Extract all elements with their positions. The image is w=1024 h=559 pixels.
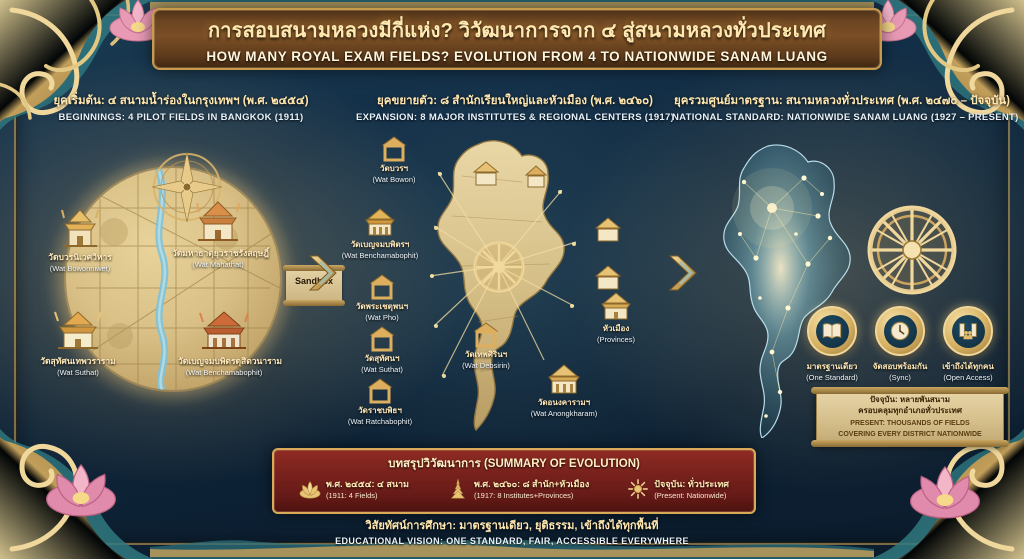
temple-label-english: (Wat Mahathat) [172,260,264,269]
temple-label-thai: วัดเบญจมบพิตรดุสิตวนาราม [178,354,270,368]
vision-footer: วิสัยทัศน์การศึกษา: มาตรฐานเดียว, ยุติธร… [0,516,1024,546]
temple-icon [178,310,270,354]
section-header-thai: ยุคเริ่มต้น: ๔ สนามน้ำร่องในกรุงเทพฯ (พ.… [36,92,326,110]
present-status-scroll: ปัจจุบัน: หลายพันสนาม ครอบคลุมทุกอำเภอทั… [816,390,1004,444]
node-wat-anongkharam[interactable]: วัดอนงคารามฯ (Wat Anongkharam) [516,366,612,418]
title-banner: การสอบสนามหลวงมีกี่แห่ง? วิวัฒนาการจาก ๔… [152,8,882,70]
section-header-thai: ยุคขยายตัว: ๘ สำนักเรียนใหญ่และหัวเมือง … [350,92,680,110]
scroll-thai-line-1: ปัจจุบัน: หลายพันสนาม [870,395,950,406]
node-wat-ratchabophit[interactable]: วัดราชบพิธฯ (Wat Ratchabophit) [332,374,428,426]
infographic-canvas: การสอบสนามหลวงมีกี่แห่ง? วิวัฒนาการจาก ๔… [0,0,1024,559]
medal-disc [943,306,993,356]
temple-gate-icon [334,322,430,352]
open-access-icon [957,320,979,342]
map-temple-east [582,214,642,324]
medal-label-thai: เข้าถึงได้ทุกคน [939,360,997,373]
panel-national: มาตรฐานเดียว (One Standard) จัดสอบพร้อมก… [690,128,1010,440]
feature-medals: มาตรฐานเดียว (One Standard) จัดสอบพร้อมก… [800,306,1000,382]
lotus-flower-bottom-left [42,459,120,523]
temple-label-english: (Wat Benchamabophit) [178,368,270,377]
node-label-english: (Wat Ratchabophit) [332,417,428,426]
temple-label-english: (Wat Bowonniwet) [34,264,126,273]
title-english: HOW MANY ROYAL EXAM FIELDS? EVOLUTION FR… [206,49,827,64]
pagoda-icon [447,478,469,500]
summary-item-1911[interactable]: พ.ศ. ๒๔๕๔: ๔ สนาม (1911: 4 Fields) [299,477,409,500]
node-wat-debsirin[interactable]: วัดเทพศิรินฯ (Wat Debsirin) [438,318,534,370]
medal-label-english: (Open Access) [939,373,997,382]
scroll-english-line-1: PRESENT: THOUSANDS OF FIELDS [850,419,969,428]
medal-disc [807,306,857,356]
temple-icon [516,366,612,396]
node-label-thai: วัดสุทัศนฯ [334,352,430,365]
node-label-thai: วัดอนงคารามฯ [516,396,612,409]
temple-label-thai: วัดมหาธาตุยุวราชรังสฤษฎิ์ [172,246,264,260]
section-header-beginnings: ยุคเริ่มต้น: ๔ สนามน้ำร่องในกรุงเทพฯ (พ.… [36,92,326,123]
medal-label-english: (Sync) [871,373,929,382]
node-wat-suthat[interactable]: วัดสุทัศนฯ (Wat Suthat) [334,322,430,374]
node-label-thai: วัดเบญจมบพิตรฯ [332,238,428,251]
temple-marker-suthat[interactable]: วัดสุทัศนเทพวราราม (Wat Suthat) [32,310,124,377]
summary-item-thai: พ.ศ. ๒๔๕๔: ๔ สนาม [326,477,409,491]
open-book-icon [821,320,843,342]
medal-one-standard[interactable]: มาตรฐานเดียว (One Standard) [803,306,861,382]
node-label-thai: วัดบวรฯ [346,162,442,175]
temple-gate-icon [334,270,430,300]
summary-item-1917[interactable]: พ.ศ. ๒๔๖๐: ๘ สำนัก+หัวเมือง (1917: 8 Ins… [447,477,589,500]
panel-beginnings: Sandbox วัดบวรนิเวศวิหาร (Wat Bowonniwet… [28,130,310,440]
node-label-english: (Wat Bowon) [346,175,442,184]
section-header-english: BEGINNINGS: 4 PILOT FIELDS IN BANGKOK (1… [36,112,326,123]
summary-item-english: (Present: Nationwide) [654,491,729,500]
scroll-rod-bottom [811,440,1009,447]
temple-icon [32,310,124,354]
temple-icon [34,208,126,250]
temple-marker-mahathat[interactable]: วัดมหาธาตุยุวราชรังสฤษฎิ์ (Wat Mahathat) [172,200,264,269]
temple-label-english: (Wat Suthat) [32,368,124,377]
section-header-english: EXPANSION: 8 MAJOR INSTITUTES & REGIONAL… [350,112,680,123]
temple-gate-icon [438,318,534,348]
node-label-english: (Wat Benchamabophit) [332,251,428,260]
burst-icon [627,478,649,500]
node-label-thai: วัดเทพศิรินฯ [438,348,534,361]
panel-expansion: วัดบวรฯ (Wat Bowon) วัดเบญจมบพิตรฯ (Wat … [330,130,670,440]
medal-label-english: (One Standard) [803,373,861,382]
node-label-english: (Wat Anongkharam) [516,409,612,418]
medal-label-thai: จัดสอบพร้อมกัน [871,360,929,373]
scroll-thai-line-2: ครอบคลุมทุกอำเภอทั่วประเทศ [858,406,962,417]
medal-sync[interactable]: จัดสอบพร้อมกัน (Sync) [871,306,929,382]
summary-item-english: (1917: 8 Institutes+Provinces) [474,491,589,500]
node-label-thai: วัดราชบพิธฯ [332,404,428,417]
node-label-english: (Provinces) [568,335,664,344]
section-header-national: ยุครวมศูนย์มาตรฐาน: สนามหลวงทั่วประเทศ (… [672,92,1012,123]
temple-marker-bowonniwet[interactable]: วัดบวรนิเวศวิหาร (Wat Bowonniwet) [34,208,126,273]
summary-item-present[interactable]: ปัจจุบัน: ทั่วประเทศ (Present: Nationwid… [627,477,729,500]
summary-panel: บทสรุปวิวัฒนาการ (SUMMARY OF EVOLUTION) … [272,448,756,514]
node-label-english: (Wat Suthat) [334,365,430,374]
medal-inner [884,315,917,348]
temple-gate-icon [332,374,428,404]
summary-item-thai: ปัจจุบัน: ทั่วประเทศ [654,477,729,491]
map-temple-cluster [450,156,570,216]
dharma-wheel-national [866,204,958,296]
summary-title: บทสรุปวิวัฒนาการ (SUMMARY OF EVOLUTION) [274,455,754,473]
summary-items: พ.ศ. ๒๔๕๔: ๔ สนาม (1911: 4 Fields) พ.ศ. … [274,477,754,500]
node-wat-pho[interactable]: วัดพระเชตุพนฯ (Wat Pho) [334,270,430,322]
medal-disc [875,306,925,356]
temple-label-thai: วัดสุทัศนเทพวราราม [32,354,124,368]
dharma-wheel-center [472,240,526,294]
section-header-english: NATIONAL STANDARD: NATIONWIDE SANAM LUAN… [672,112,1012,123]
node-label-english: (Wat Pho) [334,313,430,322]
medal-inner [952,315,985,348]
medal-open-access[interactable]: เข้าถึงได้ทุกคน (Open Access) [939,306,997,382]
medal-label-thai: มาตรฐานเดียว [803,360,861,373]
temple-icon [332,208,428,238]
scroll-english-line-2: COVERING EVERY DISTRICT NATIONWIDE [838,430,981,439]
node-label-thai: วัดพระเชตุพนฯ [334,300,430,313]
node-wat-bowon[interactable]: วัดบวรฯ (Wat Bowon) [346,132,442,184]
lotus-icon [299,478,321,500]
vision-english: EDUCATIONAL VISION: ONE STANDARD, FAIR, … [0,536,1024,546]
scroll-rod-top [811,387,1009,394]
summary-item-thai: พ.ศ. ๒๔๖๐: ๘ สำนัก+หัวเมือง [474,477,589,491]
temple-gate-icon [346,132,442,162]
section-header-expansion: ยุคขยายตัว: ๘ สำนักเรียนใหญ่และหัวเมือง … [350,92,680,123]
medal-inner [816,315,849,348]
title-thai: การสอบสนามหลวงมีกี่แห่ง? วิวัฒนาการจาก ๔… [208,14,826,46]
summary-item-english: (1911: 4 Fields) [326,491,409,500]
vision-thai: วิสัยทัศน์การศึกษา: มาตรฐานเดียว, ยุติธร… [0,516,1024,534]
temple-marker-benchamabophit[interactable]: วัดเบญจมบพิตรดุสิตวนาราม (Wat Benchamabo… [178,310,270,377]
temple-icon [172,200,264,246]
temple-label-thai: วัดบวรนิเวศวิหาร [34,250,126,264]
section-header-thai: ยุครวมศูนย์มาตรฐาน: สนามหลวงทั่วประเทศ (… [672,92,1012,110]
clock-icon [889,320,911,342]
node-wat-benchamabophit[interactable]: วัดเบญจมบพิตรฯ (Wat Benchamabophit) [332,208,428,260]
